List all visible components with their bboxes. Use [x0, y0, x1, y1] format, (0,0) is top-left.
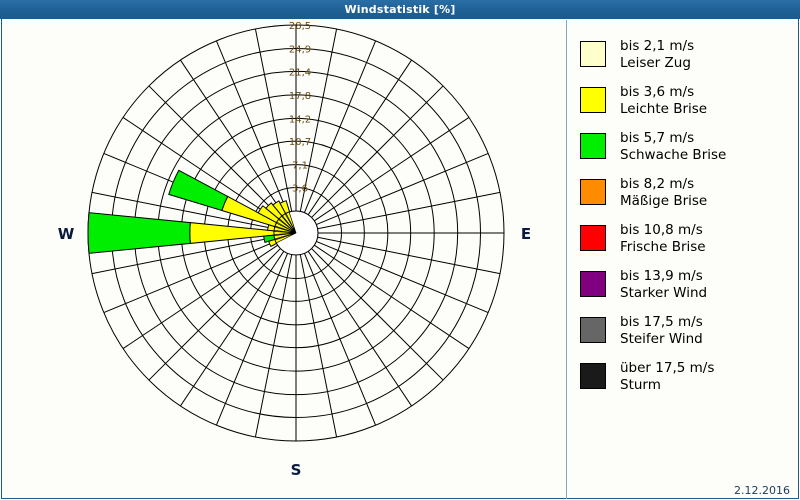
legend-name-label: Leiser Zug: [620, 55, 694, 72]
legend-name-label: Starker Wind: [620, 285, 707, 302]
legend-speed-label: bis 8,2 m/s: [620, 176, 707, 193]
legend-label-group: bis 2,1 m/sLeiser Zug: [620, 38, 694, 72]
legend-speed-label: bis 3,6 m/s: [620, 84, 707, 101]
legend-panel: bis 2,1 m/sLeiser Zugbis 3,6 m/sLeichte …: [580, 38, 795, 406]
legend-label-group: bis 17,5 m/sSteifer Wind: [620, 314, 703, 348]
legend-name-label: Steifer Wind: [620, 331, 703, 348]
legend-label-group: bis 3,6 m/sLeichte Brise: [620, 84, 707, 118]
grid-spoke: [312, 86, 444, 218]
legend-item: bis 2,1 m/sLeiser Zug: [580, 38, 795, 76]
wind-statistics-window: Windstatistik [%] 3,67,110,714,217,821,4…: [0, 0, 800, 500]
radial-tick-label: 17,8: [289, 91, 311, 102]
legend-speed-label: bis 5,7 m/s: [620, 130, 726, 147]
legend-item: bis 3,6 m/sLeichte Brise: [580, 84, 795, 122]
radial-tick-label: 10,7: [289, 137, 311, 148]
compass-label-east: E: [521, 225, 531, 243]
wind-rose-chart: 3,67,110,714,217,821,424,928,5 NESW: [8, 20, 564, 498]
grid-spoke-minor: [314, 29, 337, 143]
radial-tick-label: 28,5: [289, 21, 311, 32]
legend-color-swatch: [580, 317, 606, 343]
legend-name-label: Mäßige Brise: [620, 193, 707, 210]
legend-name-label: Schwache Brise: [620, 147, 726, 164]
grid-spoke: [314, 245, 372, 284]
grid-spoke: [308, 251, 347, 309]
legend-name-label: Frische Brise: [620, 239, 706, 256]
legend-item: bis 8,2 m/sMäßige Brise: [580, 176, 795, 214]
wind-rose-segment: [169, 170, 228, 210]
wind-rose-segment: [88, 213, 190, 254]
grid-spoke-minor: [314, 323, 337, 437]
legend-speed-label: über 17,5 m/s: [620, 360, 714, 377]
grid-spoke: [314, 182, 372, 221]
legend-color-swatch: [580, 133, 606, 159]
legend-label-group: bis 13,9 m/sStarker Wind: [620, 268, 707, 302]
grid-spoke: [220, 245, 278, 284]
radial-tick-labels: 3,67,110,714,217,821,424,928,5: [289, 21, 311, 195]
legend-item: bis 13,9 m/sStarker Wind: [580, 268, 795, 306]
legend-color-swatch: [580, 41, 606, 67]
compass-label-west: W: [58, 225, 75, 243]
legend-name-label: Leichte Brise: [620, 101, 707, 118]
wind-rose-plot: 3,67,110,714,217,821,424,928,5 NESW: [8, 20, 564, 498]
legend-label-group: bis 5,7 m/sSchwache Brise: [620, 130, 726, 164]
legend-label-group: bis 8,2 m/sMäßige Brise: [620, 176, 707, 210]
radial-tick-label: 21,4: [289, 67, 311, 78]
grid-spoke: [300, 255, 314, 323]
grid-spoke: [245, 251, 284, 309]
grid-spoke: [312, 249, 444, 381]
grid-spoke: [300, 143, 314, 211]
legend-speed-label: bis 13,9 m/s: [620, 268, 707, 285]
window-title-bar: Windstatistik [%]: [0, 0, 800, 19]
center-hub: [274, 211, 318, 255]
window-title: Windstatistik [%]: [344, 3, 455, 16]
grid-spoke-minor: [92, 251, 206, 274]
grid-spoke-minor: [386, 251, 500, 274]
legend-color-swatch: [580, 225, 606, 251]
grid-spoke: [318, 237, 386, 251]
legend-color-swatch: [580, 271, 606, 297]
radial-tick-label: 7,1: [292, 161, 308, 172]
footer-date: 2.12.2016: [734, 484, 790, 497]
legend-item: bis 17,5 m/sSteifer Wind: [580, 314, 795, 352]
legend-name-label: Sturm: [620, 377, 714, 394]
radial-tick-label: 3,6: [292, 184, 308, 195]
radial-tick-label: 14,2: [289, 114, 311, 125]
legend-item: bis 5,7 m/sSchwache Brise: [580, 130, 795, 168]
grid-spoke: [149, 249, 281, 381]
legend-speed-label: bis 2,1 m/s: [620, 38, 694, 55]
grid-spoke: [308, 157, 347, 215]
legend-color-swatch: [580, 179, 606, 205]
grid-spoke-minor: [386, 192, 500, 215]
compass-label-south: S: [291, 461, 302, 479]
radial-tick-label: 24,9: [289, 44, 311, 55]
grid-spoke: [278, 255, 292, 323]
legend-item: über 17,5 m/sSturm: [580, 360, 795, 398]
legend-speed-label: bis 10,8 m/s: [620, 222, 706, 239]
legend-color-swatch: [580, 87, 606, 113]
legend-color-swatch: [580, 363, 606, 389]
grid-spoke-minor: [255, 29, 278, 143]
grid-spoke: [318, 215, 386, 229]
legend-label-group: über 17,5 m/sSturm: [620, 360, 714, 394]
legend-divider: [566, 20, 567, 499]
legend-speed-label: bis 17,5 m/s: [620, 314, 703, 331]
grid-spoke-minor: [255, 323, 278, 437]
legend-label-group: bis 10,8 m/sFrische Brise: [620, 222, 706, 256]
legend-item: bis 10,8 m/sFrische Brise: [580, 222, 795, 260]
